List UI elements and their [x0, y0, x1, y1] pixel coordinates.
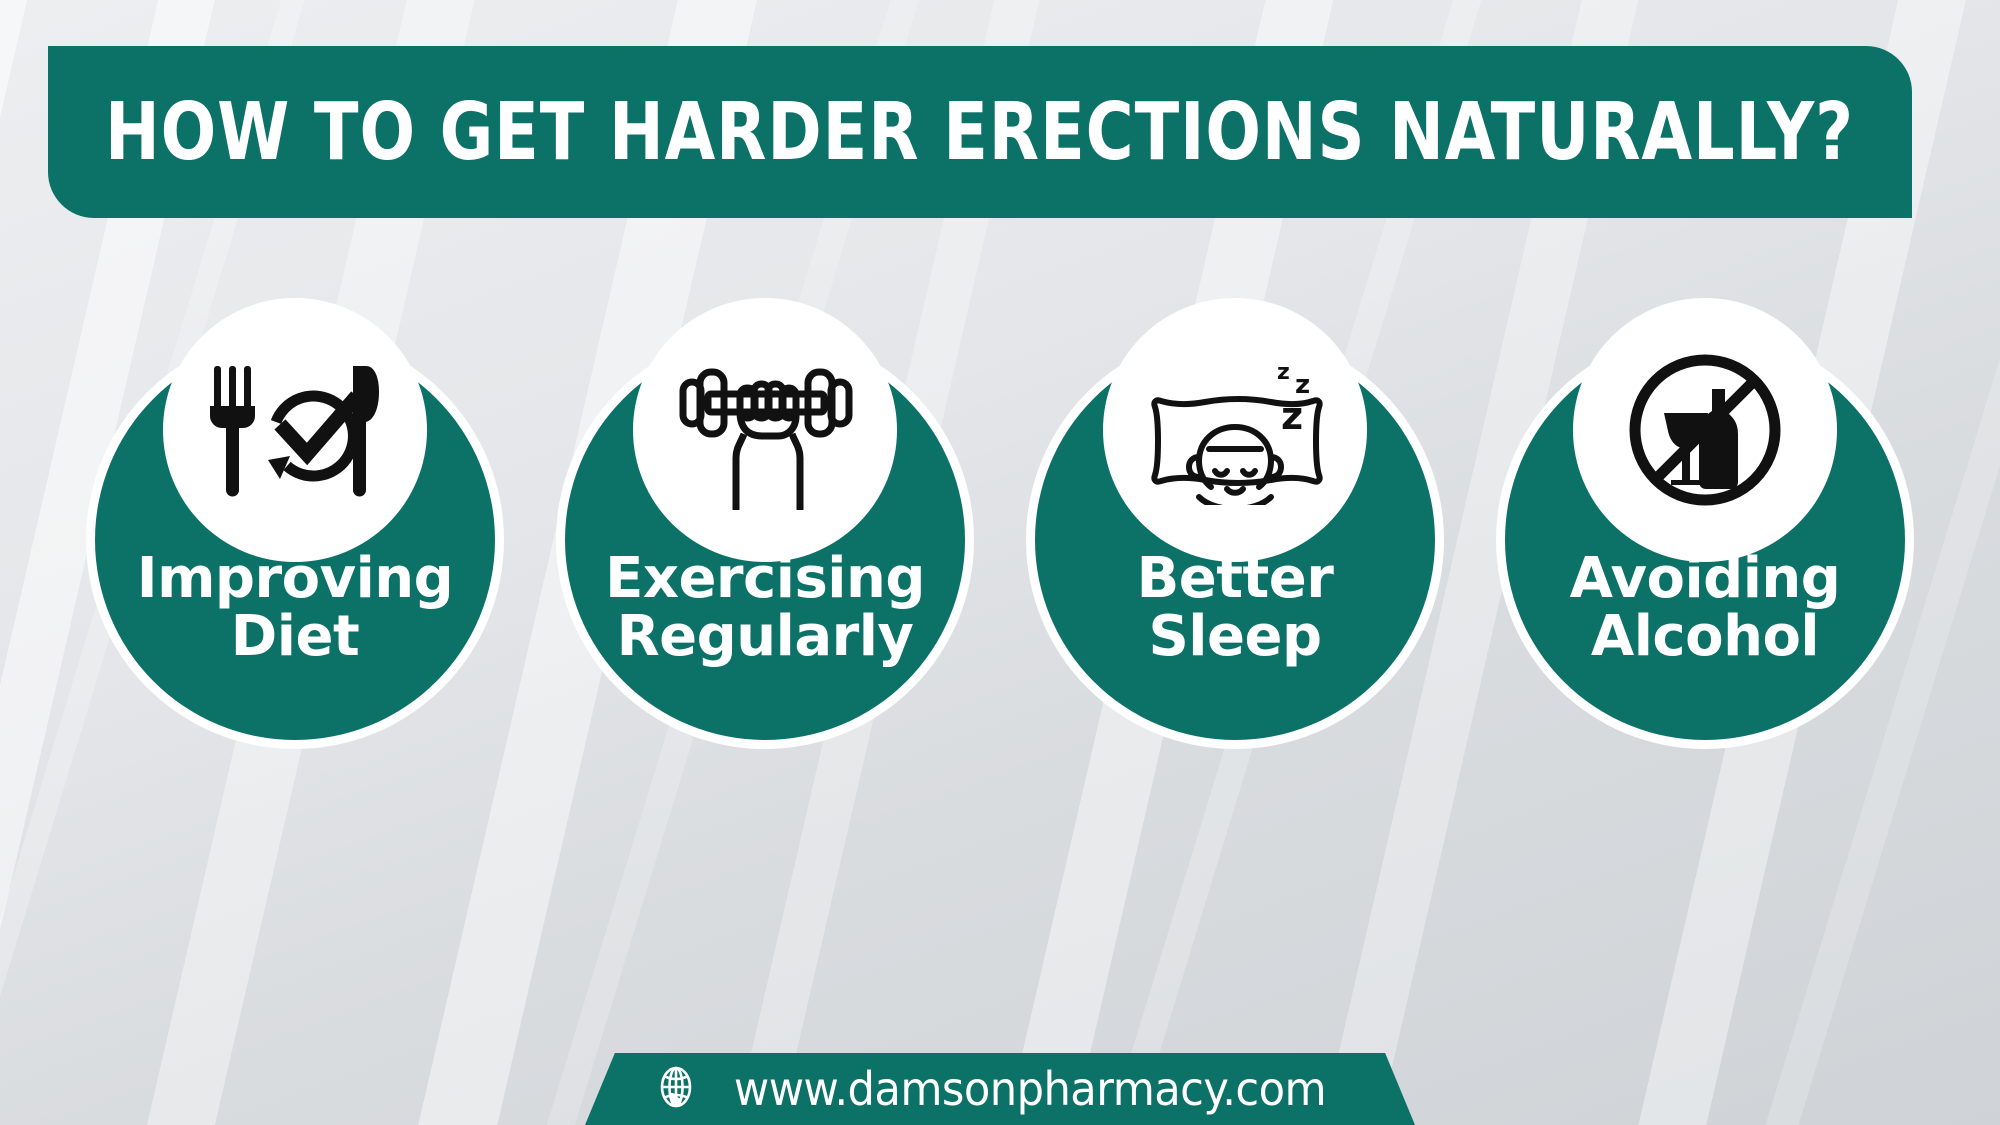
svg-text:z: z: [1281, 394, 1303, 438]
card-caption: Exercising Regularly: [575, 550, 955, 666]
card-caption-line1: Improving: [105, 550, 485, 608]
card-exercising-regularly[interactable]: Exercising Regularly: [555, 318, 975, 718]
card-caption: Better Sleep: [1045, 550, 1425, 666]
card-caption-line1: Exercising: [575, 550, 955, 608]
card-caption-line2: Sleep: [1045, 608, 1425, 666]
card-caption: Improving Diet: [105, 550, 485, 666]
card-improving-diet[interactable]: Improving Diet: [85, 318, 505, 718]
footer-url[interactable]: www.damsonpharmacy.com: [734, 1062, 1326, 1116]
card-caption: Avoiding Alcohol: [1515, 550, 1895, 666]
card-icon-well: [163, 298, 427, 562]
no-alcohol-icon: [1620, 345, 1790, 515]
page-title: HOW TO GET HARDER ERECTIONS NATURALLY?: [106, 93, 1855, 172]
card-icon-well: [633, 298, 897, 562]
header-banner: HOW TO GET HARDER ERECTIONS NATURALLY?: [48, 46, 1912, 218]
card-caption-line1: Better: [1045, 550, 1425, 608]
card-caption-line2: Alcohol: [1515, 608, 1895, 666]
card-caption-line2: Diet: [105, 608, 485, 666]
card-better-sleep[interactable]: z z z Better Sleep: [1025, 318, 1445, 718]
plate-fork-knife-check-icon: [200, 360, 390, 500]
card-caption-line2: Regularly: [575, 608, 955, 666]
footer-wrap: www.damsonpharmacy.com: [0, 1020, 2000, 1125]
benefits-row: Improving Diet: [0, 318, 2000, 718]
card-caption-line1: Avoiding: [1515, 550, 1895, 608]
card-icon-well: [1573, 298, 1837, 562]
card-avoiding-alcohol[interactable]: Avoiding Alcohol: [1495, 318, 1915, 718]
sleeping-face-pillow-zzz-icon: z z z: [1135, 355, 1335, 505]
hand-dumbbell-icon: [670, 350, 860, 510]
svg-text:z: z: [1277, 360, 1290, 385]
globe-icon: [655, 1066, 697, 1113]
card-icon-well: z z z: [1103, 298, 1367, 562]
footer-banner: www.damsonpharmacy.com: [585, 1053, 1415, 1125]
